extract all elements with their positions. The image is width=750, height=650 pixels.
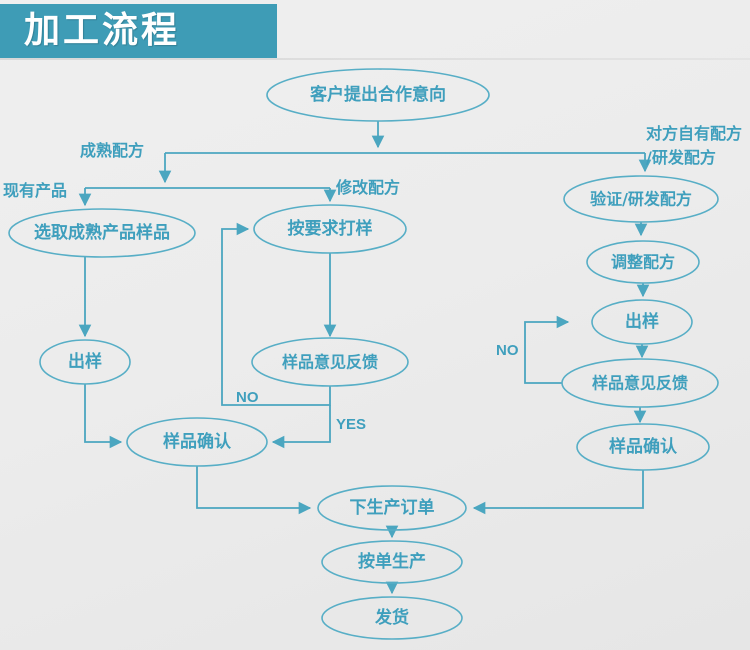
node-place-order-label: 下生产订单 bbox=[350, 497, 435, 518]
node-ship-label: 发货 bbox=[374, 607, 409, 628]
node-feedback-mid-label: 样品意见反馈 bbox=[282, 353, 378, 372]
node-make-sample-label: 按要求打样 bbox=[288, 218, 373, 239]
node-produce[interactable]: 按单生产 bbox=[322, 541, 462, 583]
node-out-sample-left[interactable]: 出样 bbox=[40, 340, 130, 384]
node-ship[interactable]: 发货 bbox=[322, 597, 462, 639]
node-confirm-left[interactable]: 样品确认 bbox=[127, 418, 267, 466]
edge-label-yes-mid: YES bbox=[336, 416, 366, 433]
node-feedback-right-label: 样品意见反馈 bbox=[592, 374, 688, 393]
edge-label-existing-product: 现有产品 bbox=[3, 181, 67, 200]
node-pick-sample[interactable]: 选取成熟产品样品 bbox=[9, 209, 195, 257]
edge-label-no-right: NO bbox=[496, 342, 519, 359]
node-out-sample-right[interactable]: 出样 bbox=[592, 300, 692, 344]
process-flow-diagram: 客户提出合作意向 选取成熟产品样品 按要求打样 验证/研发配方 调整配方 出样 bbox=[0, 0, 750, 650]
edge-label-own-formula-line1: 对方自有配方 bbox=[646, 124, 742, 143]
edge-label-own-formula-line2: /研发配方 bbox=[646, 148, 716, 167]
edge-confirm-left-to-order bbox=[197, 466, 310, 508]
edge-yes-to-confirm-left bbox=[273, 405, 330, 442]
edge-no-loop-right bbox=[525, 322, 568, 383]
node-verify-formula-label: 验证/研发配方 bbox=[590, 190, 692, 209]
edge-out-left-to-confirm bbox=[85, 384, 121, 442]
node-adjust-formula[interactable]: 调整配方 bbox=[587, 241, 699, 283]
node-adjust-formula-label: 调整配方 bbox=[611, 253, 675, 272]
node-start-label: 客户提出合作意向 bbox=[309, 84, 446, 105]
flowchart-page: 加工流程 bbox=[0, 0, 750, 650]
node-out-sample-right-label: 出样 bbox=[625, 311, 659, 332]
node-pick-sample-label: 选取成熟产品样品 bbox=[34, 222, 170, 243]
node-feedback-mid[interactable]: 样品意见反馈 bbox=[252, 338, 408, 386]
node-place-order[interactable]: 下生产订单 bbox=[318, 486, 466, 530]
edge-label-mature-formula: 成熟配方 bbox=[80, 141, 144, 160]
edge-label-modify-formula: 修改配方 bbox=[335, 178, 400, 197]
edge-label-no-mid: NO bbox=[236, 389, 259, 406]
node-feedback-right[interactable]: 样品意见反馈 bbox=[562, 359, 718, 407]
node-start[interactable]: 客户提出合作意向 bbox=[267, 69, 489, 121]
node-confirm-right-label: 样品确认 bbox=[609, 436, 678, 457]
node-make-sample[interactable]: 按要求打样 bbox=[254, 205, 406, 253]
node-verify-formula[interactable]: 验证/研发配方 bbox=[564, 176, 718, 222]
node-out-sample-left-label: 出样 bbox=[68, 351, 102, 372]
node-confirm-left-label: 样品确认 bbox=[163, 431, 232, 452]
node-produce-label: 按单生产 bbox=[358, 551, 426, 572]
edge-confirm-right-to-order bbox=[474, 470, 643, 508]
node-confirm-right[interactable]: 样品确认 bbox=[577, 424, 709, 470]
